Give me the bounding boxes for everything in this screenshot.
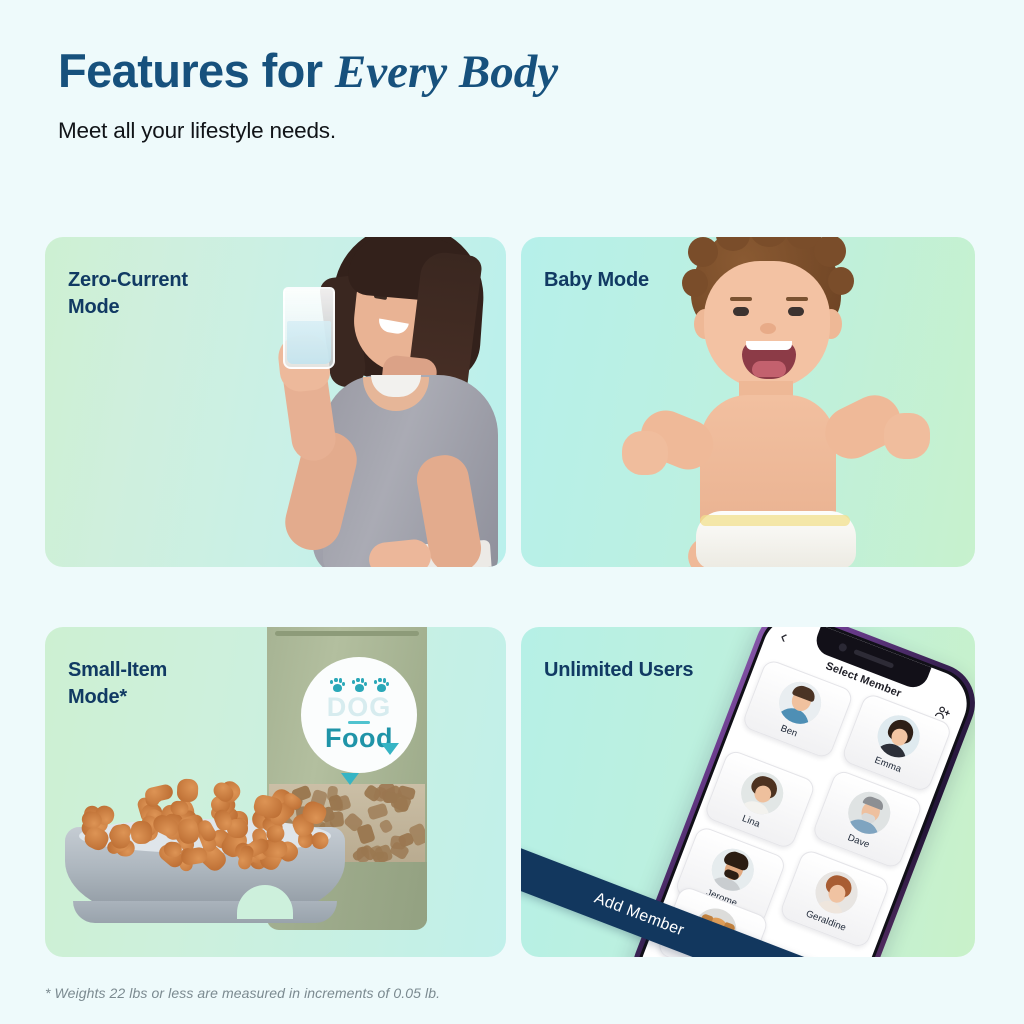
feature-card-title: Baby Mode bbox=[544, 267, 649, 294]
triangle-icon bbox=[341, 773, 359, 785]
footnote: * Weights 22 lbs or less are measured in… bbox=[45, 985, 440, 1001]
baby-image bbox=[596, 237, 975, 567]
triangle-icon bbox=[381, 743, 399, 755]
pregnant-woman-image bbox=[245, 237, 506, 567]
water-glass-icon bbox=[283, 287, 335, 369]
feature-card-baby[interactable]: Baby Mode bbox=[521, 237, 975, 567]
feature-card-title: Unlimited Users bbox=[544, 657, 693, 684]
page-title-emphasis: Every Body bbox=[335, 46, 558, 98]
feature-card-small-item[interactable]: DOG Food Small-Item Mode* bbox=[45, 627, 506, 957]
paw-icon bbox=[374, 678, 389, 693]
page-title-plain: Features for bbox=[58, 44, 335, 97]
feature-card-title: Small-Item Mode* bbox=[68, 657, 167, 711]
dog-bowl bbox=[65, 789, 345, 929]
header: Features for Every Body Meet all your li… bbox=[58, 46, 958, 144]
paw-icon bbox=[330, 678, 345, 693]
feature-card-zero-current[interactable]: Zero-Current Mode bbox=[45, 237, 506, 567]
dog-food-label: DOG Food bbox=[301, 657, 417, 773]
paw-icon bbox=[352, 678, 367, 693]
feature-card-title: Zero-Current Mode bbox=[68, 267, 188, 321]
feature-card-unlimited-users[interactable]: ‹ Select Member bbox=[521, 627, 975, 957]
dog-food-label-line1: DOG bbox=[327, 695, 392, 721]
member-card[interactable]: Geraldine bbox=[778, 848, 891, 950]
page-title: Features for Every Body bbox=[58, 46, 958, 97]
paw-print-icons bbox=[330, 678, 389, 693]
page-subtitle: Meet all your lifestyle needs. bbox=[58, 118, 958, 144]
